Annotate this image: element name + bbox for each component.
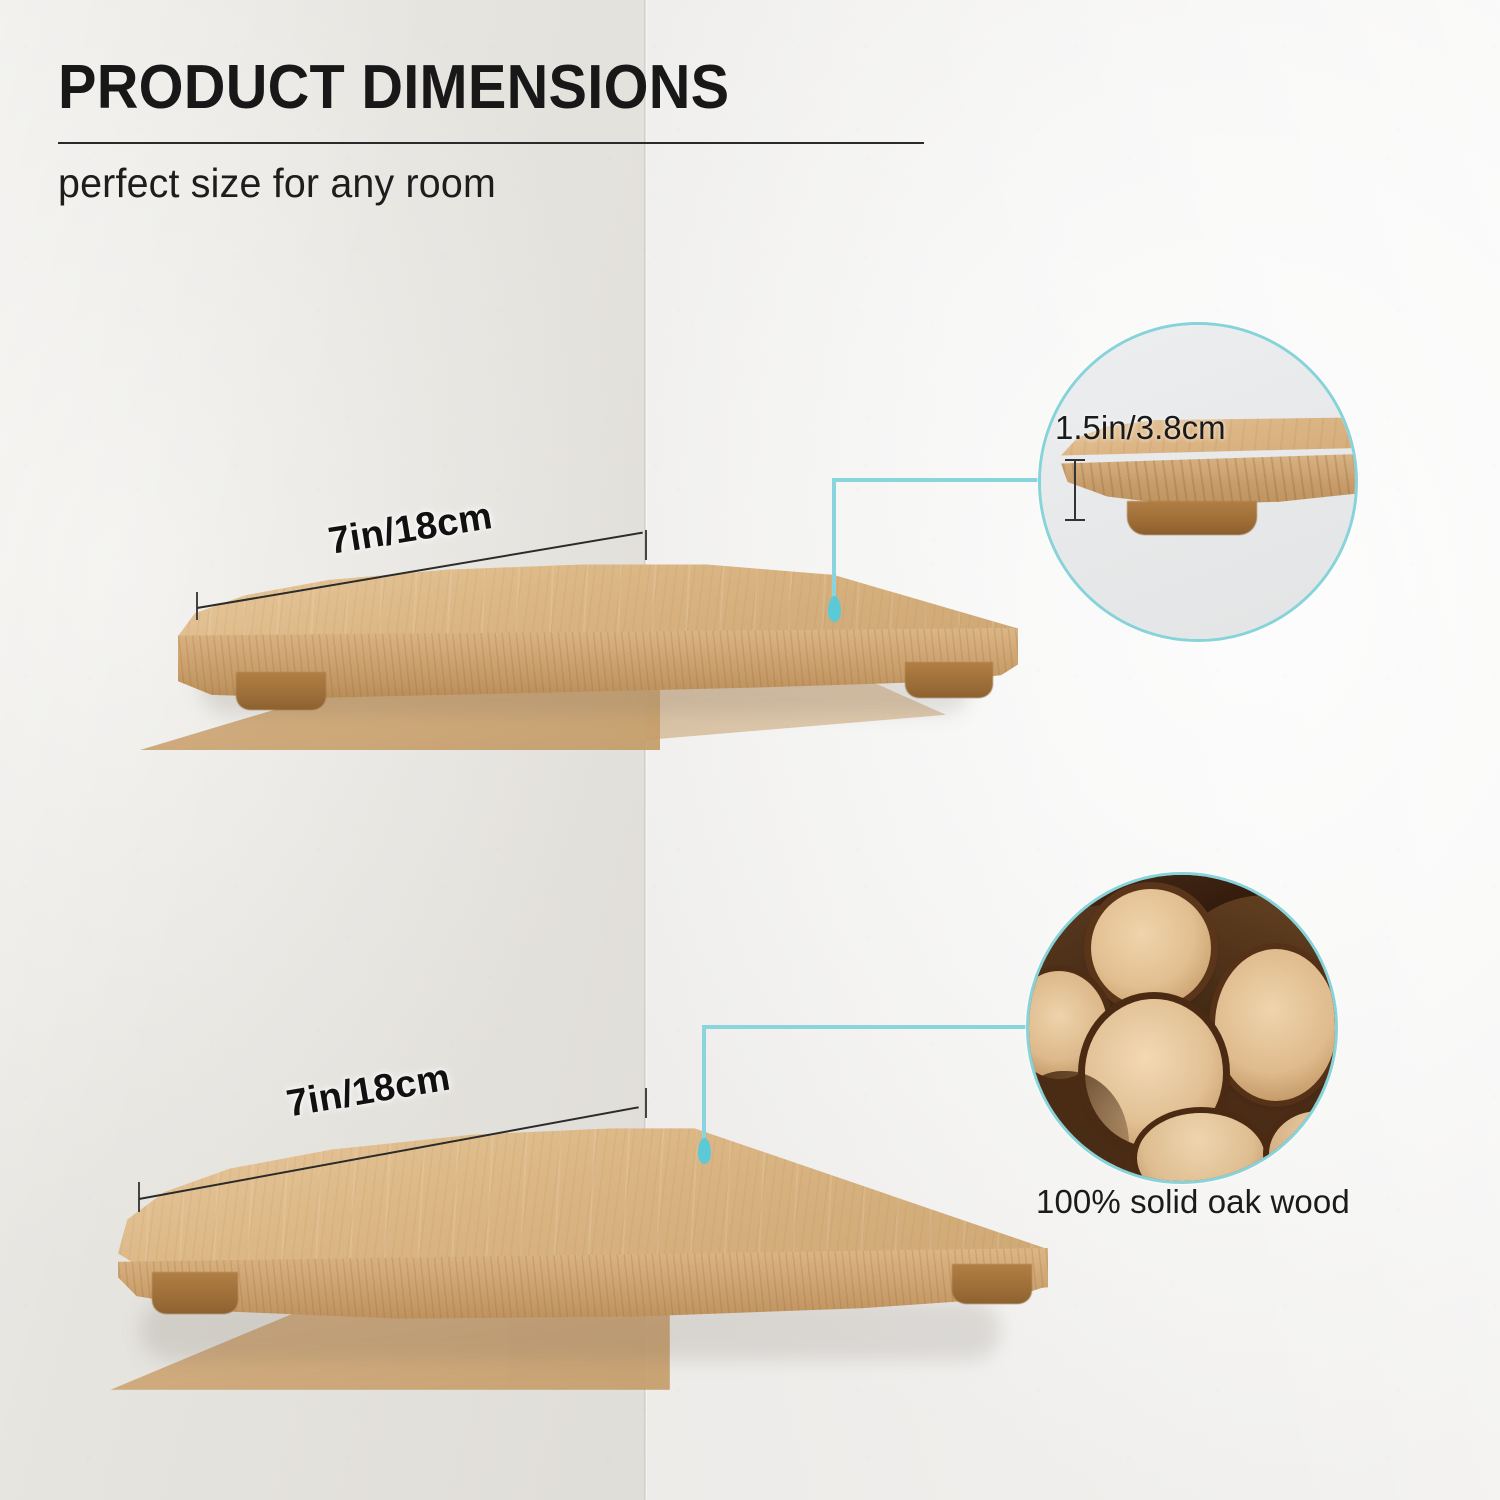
page-subtitle: perfect size for any room [58, 160, 903, 207]
upper-shelf-cleat-left [236, 672, 326, 710]
connector-pin-icon [698, 1138, 711, 1164]
oak-logs-image [1029, 875, 1335, 1181]
lower-shelf-cleat-right [952, 1264, 1032, 1304]
dimension-tick-icon [645, 530, 647, 560]
connector-upper-horizontal [832, 478, 1057, 482]
connector-upper-vertical [832, 478, 836, 608]
connector-lower-horizontal [702, 1025, 1050, 1029]
upper-shelf-cleat-right [905, 662, 993, 698]
dimension-tick-icon [645, 1088, 647, 1118]
header: PRODUCT DIMENSIONS perfect size for any … [58, 56, 938, 207]
thickness-callout-circle: 1.5in/3.8cm [1038, 322, 1358, 642]
thickness-label: 1.5in/3.8cm [1055, 409, 1226, 447]
material-caption: 100% solid oak wood [1036, 1183, 1350, 1221]
lower-shelf-cleat-left [152, 1272, 238, 1314]
header-divider [58, 142, 924, 144]
thickness-zoom-cleat [1127, 501, 1257, 535]
connector-pin-icon [828, 596, 841, 622]
caliper-icon [1065, 459, 1085, 521]
material-callout-circle [1026, 872, 1338, 1184]
product-infographic: PRODUCT DIMENSIONS perfect size for any … [0, 0, 1500, 1500]
page-title: PRODUCT DIMENSIONS [58, 56, 876, 120]
connector-lower-vertical [702, 1025, 706, 1150]
